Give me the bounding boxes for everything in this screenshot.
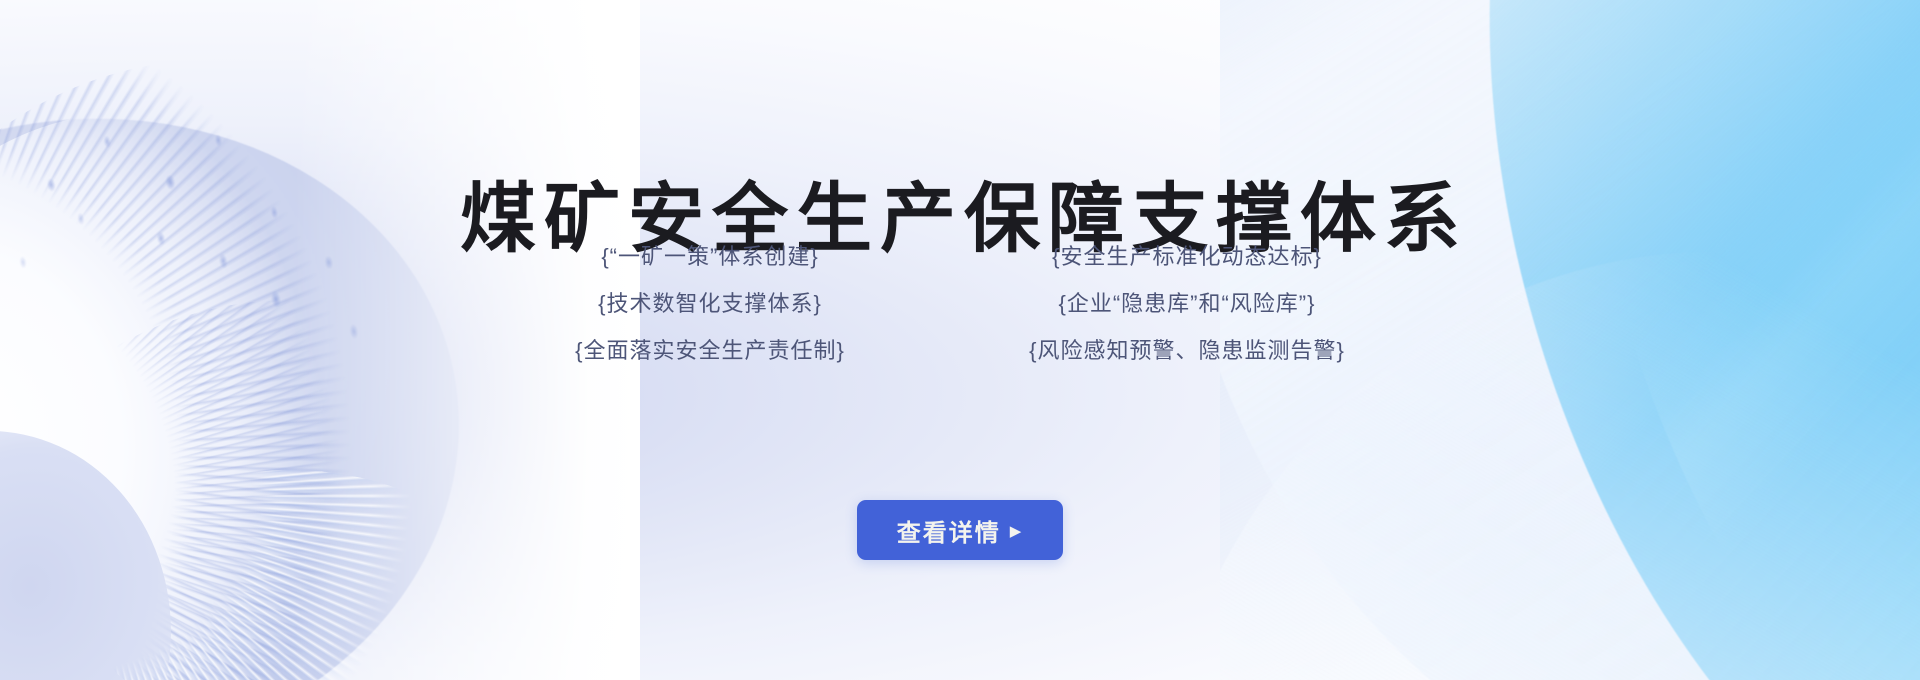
cta-container: 查看详情 ▶ bbox=[0, 500, 1920, 560]
feature-item: {风险感知预警、隐患监测告警} bbox=[1029, 332, 1345, 369]
banner-content: 煤矿安全生产保障支撑体系 {“一矿一策”体系创建} {技术数智化支撑体系} {全… bbox=[0, 0, 1920, 680]
feature-column-right: {安全生产标准化动态达标} {企业“隐患库”和“风险库”} {风险感知预警、隐患… bbox=[998, 238, 1376, 369]
feature-item: {企业“隐患库”和“风险库”} bbox=[1058, 285, 1315, 322]
hero-banner: 煤矿安全生产保障支撑体系 {“一矿一策”体系创建} {技术数智化支撑体系} {全… bbox=[0, 0, 1920, 680]
feature-list: {“一矿一策”体系创建} {技术数智化支撑体系} {全面落实安全生产责任制} {… bbox=[0, 238, 1920, 369]
feature-column-left: {“一矿一策”体系创建} {技术数智化支撑体系} {全面落实安全生产责任制} bbox=[544, 238, 876, 369]
view-details-label: 查看详情 bbox=[897, 513, 1001, 548]
feature-item: {全面落实安全生产责任制} bbox=[575, 332, 845, 369]
feature-item: {安全生产标准化动态达标} bbox=[1052, 238, 1322, 275]
play-arrow-icon: ▶ bbox=[1010, 524, 1024, 539]
feature-item: {技术数智化支撑体系} bbox=[598, 285, 822, 322]
view-details-button[interactable]: 查看详情 ▶ bbox=[857, 500, 1064, 560]
feature-item: {“一矿一策”体系创建} bbox=[601, 238, 818, 275]
